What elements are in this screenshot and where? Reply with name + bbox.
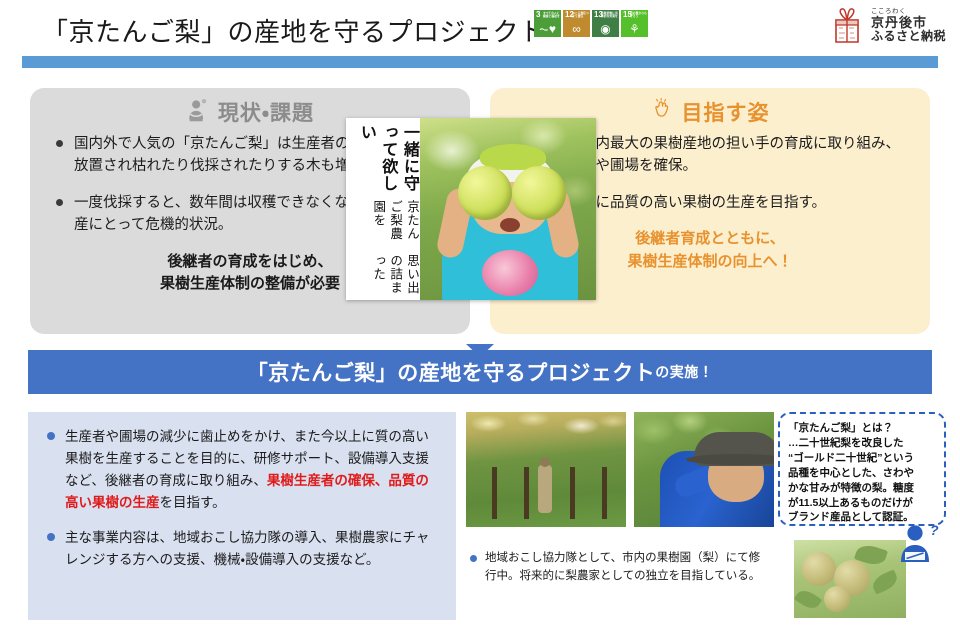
project-details-bullets: 生産者や圃場の減少に歯止めをかけ、また今以上に質の高い果樹を生産することを目的に…	[28, 412, 456, 571]
banner-down-arrow-icon	[466, 344, 494, 357]
worker-in-orchard-photo	[634, 412, 774, 527]
sdg-caption: つくる責任つかう責任	[572, 12, 589, 18]
list-item: 生産者や圃場の減少に歯止めをかけ、また今以上に質の高い果樹を生産することを目的に…	[46, 426, 440, 513]
pear-fruit	[824, 586, 850, 612]
banner-suffix-text: の実施！	[655, 362, 713, 382]
current-situation-title: 現状・課題	[218, 97, 314, 127]
vertical-message-text: 一緒に守って欲しい 京たんご梨農園を 思い出の詰まった	[346, 118, 420, 300]
photo-caption-block: 地域おこし協力隊として、市内の果樹園（梨）にて修行中。将来的に梨農家としての独立…	[470, 550, 770, 586]
question-mark-glyph: ?	[930, 524, 939, 538]
logo-city-name: 京丹後市	[871, 16, 946, 30]
header-divider-bar	[22, 56, 938, 68]
gift-box-icon	[829, 6, 865, 46]
vertical-line-1: 思い出の詰まった	[369, 254, 420, 300]
banner-main-text: 「京たんご梨」の産地を守るプロジェクト	[247, 357, 656, 387]
child-holding-pears-photo	[420, 118, 596, 300]
child-mouth	[500, 218, 520, 232]
shirt-print	[482, 250, 538, 296]
heartbeat-icon: ⏦♥	[534, 23, 561, 35]
callout-line-4: 品種を中心とした、さわや	[788, 466, 936, 481]
pear-leaf	[794, 587, 822, 613]
pears-on-tree-photo	[794, 540, 906, 618]
vertical-line-3: 一緒に守って欲しい	[355, 124, 420, 198]
sdg-icon-3: 3 すべての人に健康と福祉を ⏦♥	[534, 10, 561, 37]
pear-leaf	[870, 569, 900, 594]
infinity-icon: ∞	[563, 23, 590, 35]
orchard-worker-figure	[538, 465, 552, 513]
slide-root: 「京たんご梨」の産地を守るプロジェクト 3 すべての人に健康と福祉を ⏦♥ 12…	[0, 0, 960, 640]
pear-left	[458, 166, 512, 220]
list-item: 主な事業内容は、地域おこし協力隊の導入、果樹農家にチャレンジする方への支援、機械…	[46, 527, 440, 571]
globe-eye-icon: ◉	[592, 23, 619, 35]
tree-trunk	[602, 467, 607, 519]
sdg-icon-row: 3 すべての人に健康と福祉を ⏦♥ 12 つくる責任つかう責任 ∞ 13 気候変…	[534, 10, 648, 37]
goal-title: 目指す姿	[682, 97, 770, 127]
furusato-nozei-logo: こころわく 京丹後市 ふるさと納税	[829, 6, 946, 46]
detail-text-part2: を目指す。	[160, 495, 226, 510]
sdg-caption: 陸の豊かさも守ろう	[630, 12, 647, 18]
sdg-caption: すべての人に健康と福祉を	[543, 12, 560, 18]
callout-line-2: …二十世紀梨を改良した	[788, 436, 936, 451]
photo-caption: 地域おこし協力隊として、市内の果樹園（梨）にて修行中。将来的に梨農家としての独立…	[470, 550, 770, 586]
center-photo-callout: 一緒に守って欲しい 京たんご梨農園を 思い出の詰まった	[346, 118, 596, 300]
pear-orchard-photo	[466, 412, 626, 527]
kyotango-pear-definition-callout: 「京たんご梨」とは？ …二十世紀梨を改良した “ゴールド二十世紀”という 品種を…	[778, 412, 946, 526]
sdg-number: 3	[536, 11, 540, 19]
thinking-person-icon: ?	[895, 524, 941, 564]
tree-trunk	[570, 467, 575, 519]
slide-header: 「京たんご梨」の産地を守るプロジェクト 3 すべての人に健康と福祉を ⏦♥ 12…	[0, 0, 960, 70]
logo-text-block: こころわく 京丹後市 ふるさと納税	[871, 9, 946, 42]
callout-line-6: が11.5以上あるものだけが	[788, 496, 936, 511]
sdg-icon-12: 12 つくる責任つかう責任 ∞	[563, 10, 590, 37]
tree-trunk	[524, 467, 529, 519]
tree-icon: ⚘	[621, 23, 648, 35]
project-details-panel: 生産者や圃場の減少に歯止めをかけ、また今以上に質の高い果樹を生産することを目的に…	[28, 412, 456, 620]
pear-fruit	[802, 552, 836, 586]
sdg-icon-13: 13 気候変動に具体的な対策を ◉	[592, 10, 619, 37]
logo-furusato-label: ふるさと納税	[871, 30, 946, 43]
sdg-icon-15: 15 陸の豊かさも守ろう ⚘	[621, 10, 648, 37]
callout-line-1: 「京たんご梨」とは？	[788, 421, 936, 436]
tree-trunk	[492, 467, 497, 519]
worker-hat	[694, 432, 774, 466]
sdg-caption: 気候変動に具体的な対策を	[601, 12, 618, 18]
worried-person-icon	[186, 98, 210, 127]
vertical-line-2: 京たんご梨農園を	[369, 200, 420, 252]
callout-line-3: “ゴールド二十世紀”という	[788, 451, 936, 466]
pointing-hand-icon	[651, 98, 674, 126]
pear-right	[512, 166, 566, 220]
callout-line-5: かな甘みが特徴の梨。糖度	[788, 481, 936, 496]
page-title: 「京たんご梨」の産地を守るプロジェクト	[42, 12, 546, 49]
